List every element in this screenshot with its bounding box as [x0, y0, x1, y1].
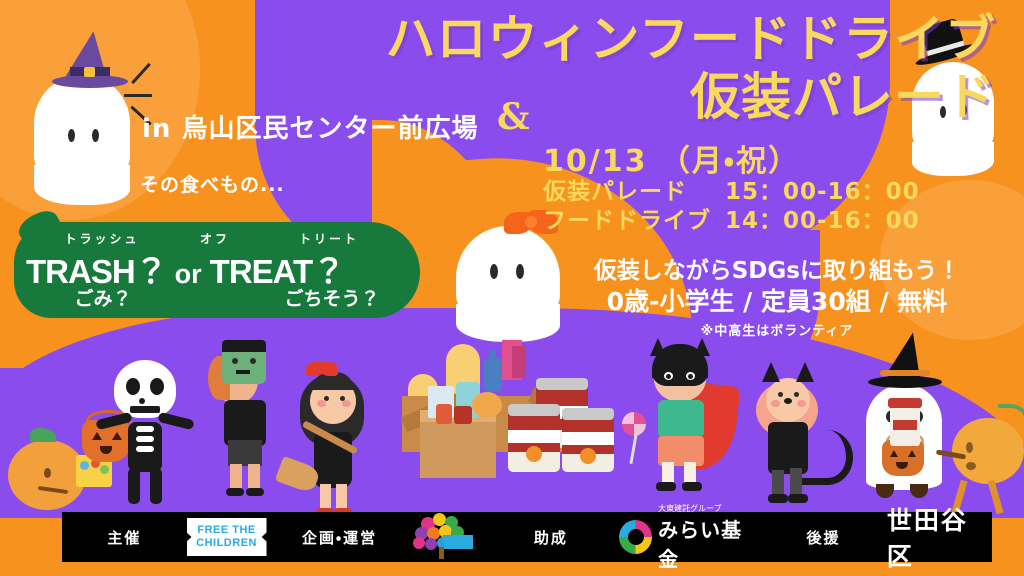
schedule-row-time: 15：00-16：00 — [725, 178, 920, 207]
halloween-event-poster: ハロウィンフードドライブ 仮装パレード & in 烏山区民センター前広場 その食… — [0, 0, 1024, 576]
footer-label-planning: 企画・運営 — [267, 527, 413, 548]
mirai-logo-top: 大東建託グループ — [658, 503, 760, 514]
ftc-logo-line2: CHILDREN — [196, 537, 257, 550]
lead-text: その食べもの... — [140, 170, 285, 197]
ftc-logo-line1: FREE THE — [197, 524, 255, 537]
venue-subtitle: in 烏山区民センター前広場 — [142, 108, 478, 145]
bubble-sub-spacer — [178, 284, 256, 311]
schedule-row: 仮装パレード 15：00-16：00 — [543, 178, 920, 207]
footer-label-grant: 助成 — [483, 527, 619, 548]
schedule-row: フードドライブ 14：00-16：00 — [543, 207, 920, 236]
info-line-2: 0歳-小学生 / 定員30組 / 無料 — [592, 286, 962, 317]
cat-tail-icon — [802, 430, 853, 485]
free-the-children-logo: FREE THE CHILDREN — [187, 518, 267, 556]
info-note: ※中高生はボランティア — [592, 320, 962, 339]
bubble-sub-gochisou: ごちそう？ — [256, 284, 408, 311]
schedule-row-label: フードドライブ — [543, 207, 711, 236]
jar-icon — [890, 404, 920, 446]
bubble-sub-row: ごみ？ ごちそう？ — [28, 284, 408, 311]
bubble-sub-gomi: ごみ？ — [28, 284, 178, 311]
mirai-kikin-logo: 大東建託グループ みらい基金 — [619, 503, 760, 572]
event-date: 10/13 （月・祝） — [543, 146, 920, 178]
footer-label-support: 後援 — [760, 527, 887, 548]
footer-label-organizer: 主催 — [62, 527, 187, 548]
schedule-row-time: 14：00-16：00 — [725, 207, 920, 236]
mirai-logo-main: みらい基金 — [658, 514, 760, 572]
witch-hat-icon — [868, 342, 942, 390]
ampersand: & — [497, 96, 530, 138]
schedule-block: 10/13 （月・祝） 仮装パレード 15：00-16：00 フードドライブ 1… — [543, 146, 920, 236]
sponsor-footer: 主催 FREE THE CHILDREN 企画・運営 助成 — [62, 512, 992, 562]
ftc-tree-logo — [413, 515, 483, 559]
schedule-row-label: 仮装パレード — [543, 178, 711, 207]
info-line-1: 仮装しながらSDGsに取り組もう！ — [592, 258, 962, 286]
title-line-1: ハロウィンフードドライブ — [0, 14, 996, 64]
setagaya-ward-logo: 世田谷区 — [887, 501, 992, 573]
info-block: 仮装しながらSDGsに取り組もう！ 0歳-小学生 / 定員30組 / 無料 ※中… — [592, 258, 962, 339]
